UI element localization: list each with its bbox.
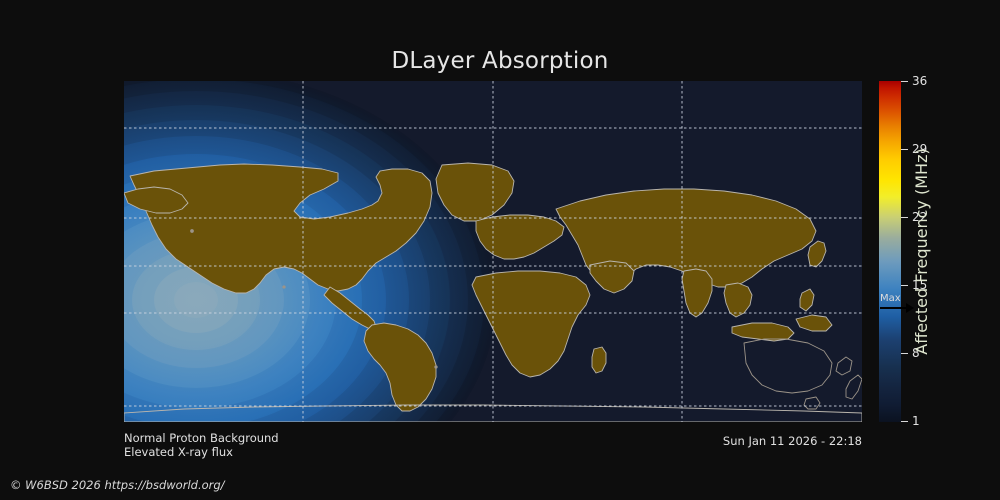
proton-background-note: Normal Proton Background (124, 431, 279, 445)
max-marker-arrow-shaft (880, 307, 908, 309)
timestamp: Sun Jan 11 2026 - 22:18 (462, 434, 862, 448)
colorbar-max-marker: Max (879, 293, 919, 319)
colorbar-ticks: 1 8 15 22 29 36 (901, 81, 961, 422)
absorption-map[interactable] (124, 81, 862, 422)
credit-line: © W6BSD 2026 https://bsdworld.org/ (10, 478, 225, 492)
max-marker-label: Max (880, 293, 901, 304)
map-canvas (124, 81, 862, 422)
visualization-root: DLayer Absorption (0, 0, 1000, 500)
max-marker-arrow-head (906, 303, 914, 313)
page-title: DLayer Absorption (0, 48, 1000, 74)
colorbar-gradient (879, 81, 901, 422)
xray-flux-note: Elevated X-ray flux (124, 445, 233, 459)
